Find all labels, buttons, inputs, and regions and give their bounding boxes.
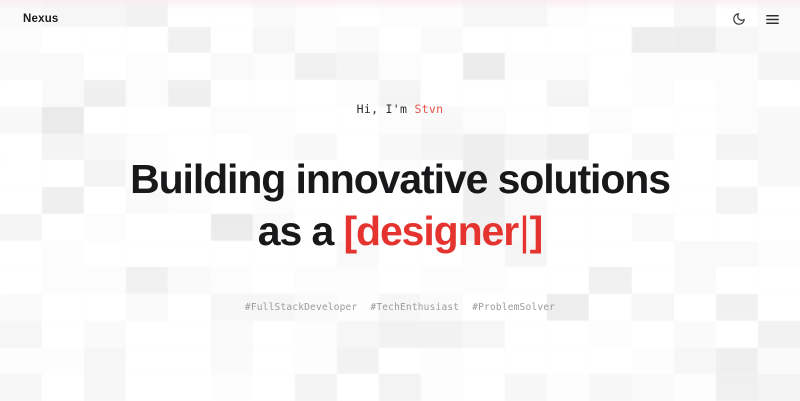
hero-tags: #FullStackDeveloper #TechEnthusiast #Pro…	[245, 302, 555, 313]
greeting-prefix: Hi, I'm	[357, 102, 415, 116]
hero-section: Hi, I'm Stvn Building innovative solutio…	[0, 0, 800, 401]
tag-item: #FullStackDeveloper	[245, 302, 357, 313]
tag-item: #TechEnthusiast	[370, 302, 459, 313]
site-header: Nexus	[0, 0, 800, 38]
theme-toggle-button[interactable]	[728, 8, 750, 30]
headline-line-2: as a [designer|]	[130, 206, 670, 257]
headline-line-1: Building innovative solutions	[130, 156, 670, 202]
bracket-open: [	[343, 208, 356, 254]
tag-item: #ProblemSolver	[472, 302, 555, 313]
bracket-close: ]	[530, 208, 543, 254]
hero-headline: Building innovative solutions as a [desi…	[130, 154, 670, 257]
menu-button[interactable]	[761, 8, 783, 30]
hero-name: Stvn	[414, 102, 443, 116]
moon-icon	[732, 12, 746, 26]
header-actions	[728, 8, 783, 30]
site-logo[interactable]: Nexus	[23, 13, 59, 25]
typed-word: designer	[356, 208, 518, 254]
page-root: Nexus Hi	[0, 0, 800, 401]
hero-greeting: Hi, I'm Stvn	[357, 102, 444, 116]
headline-line-2-prefix: as a	[258, 208, 344, 254]
typing-cursor: |	[519, 208, 529, 254]
hamburger-menu-icon	[765, 12, 780, 27]
